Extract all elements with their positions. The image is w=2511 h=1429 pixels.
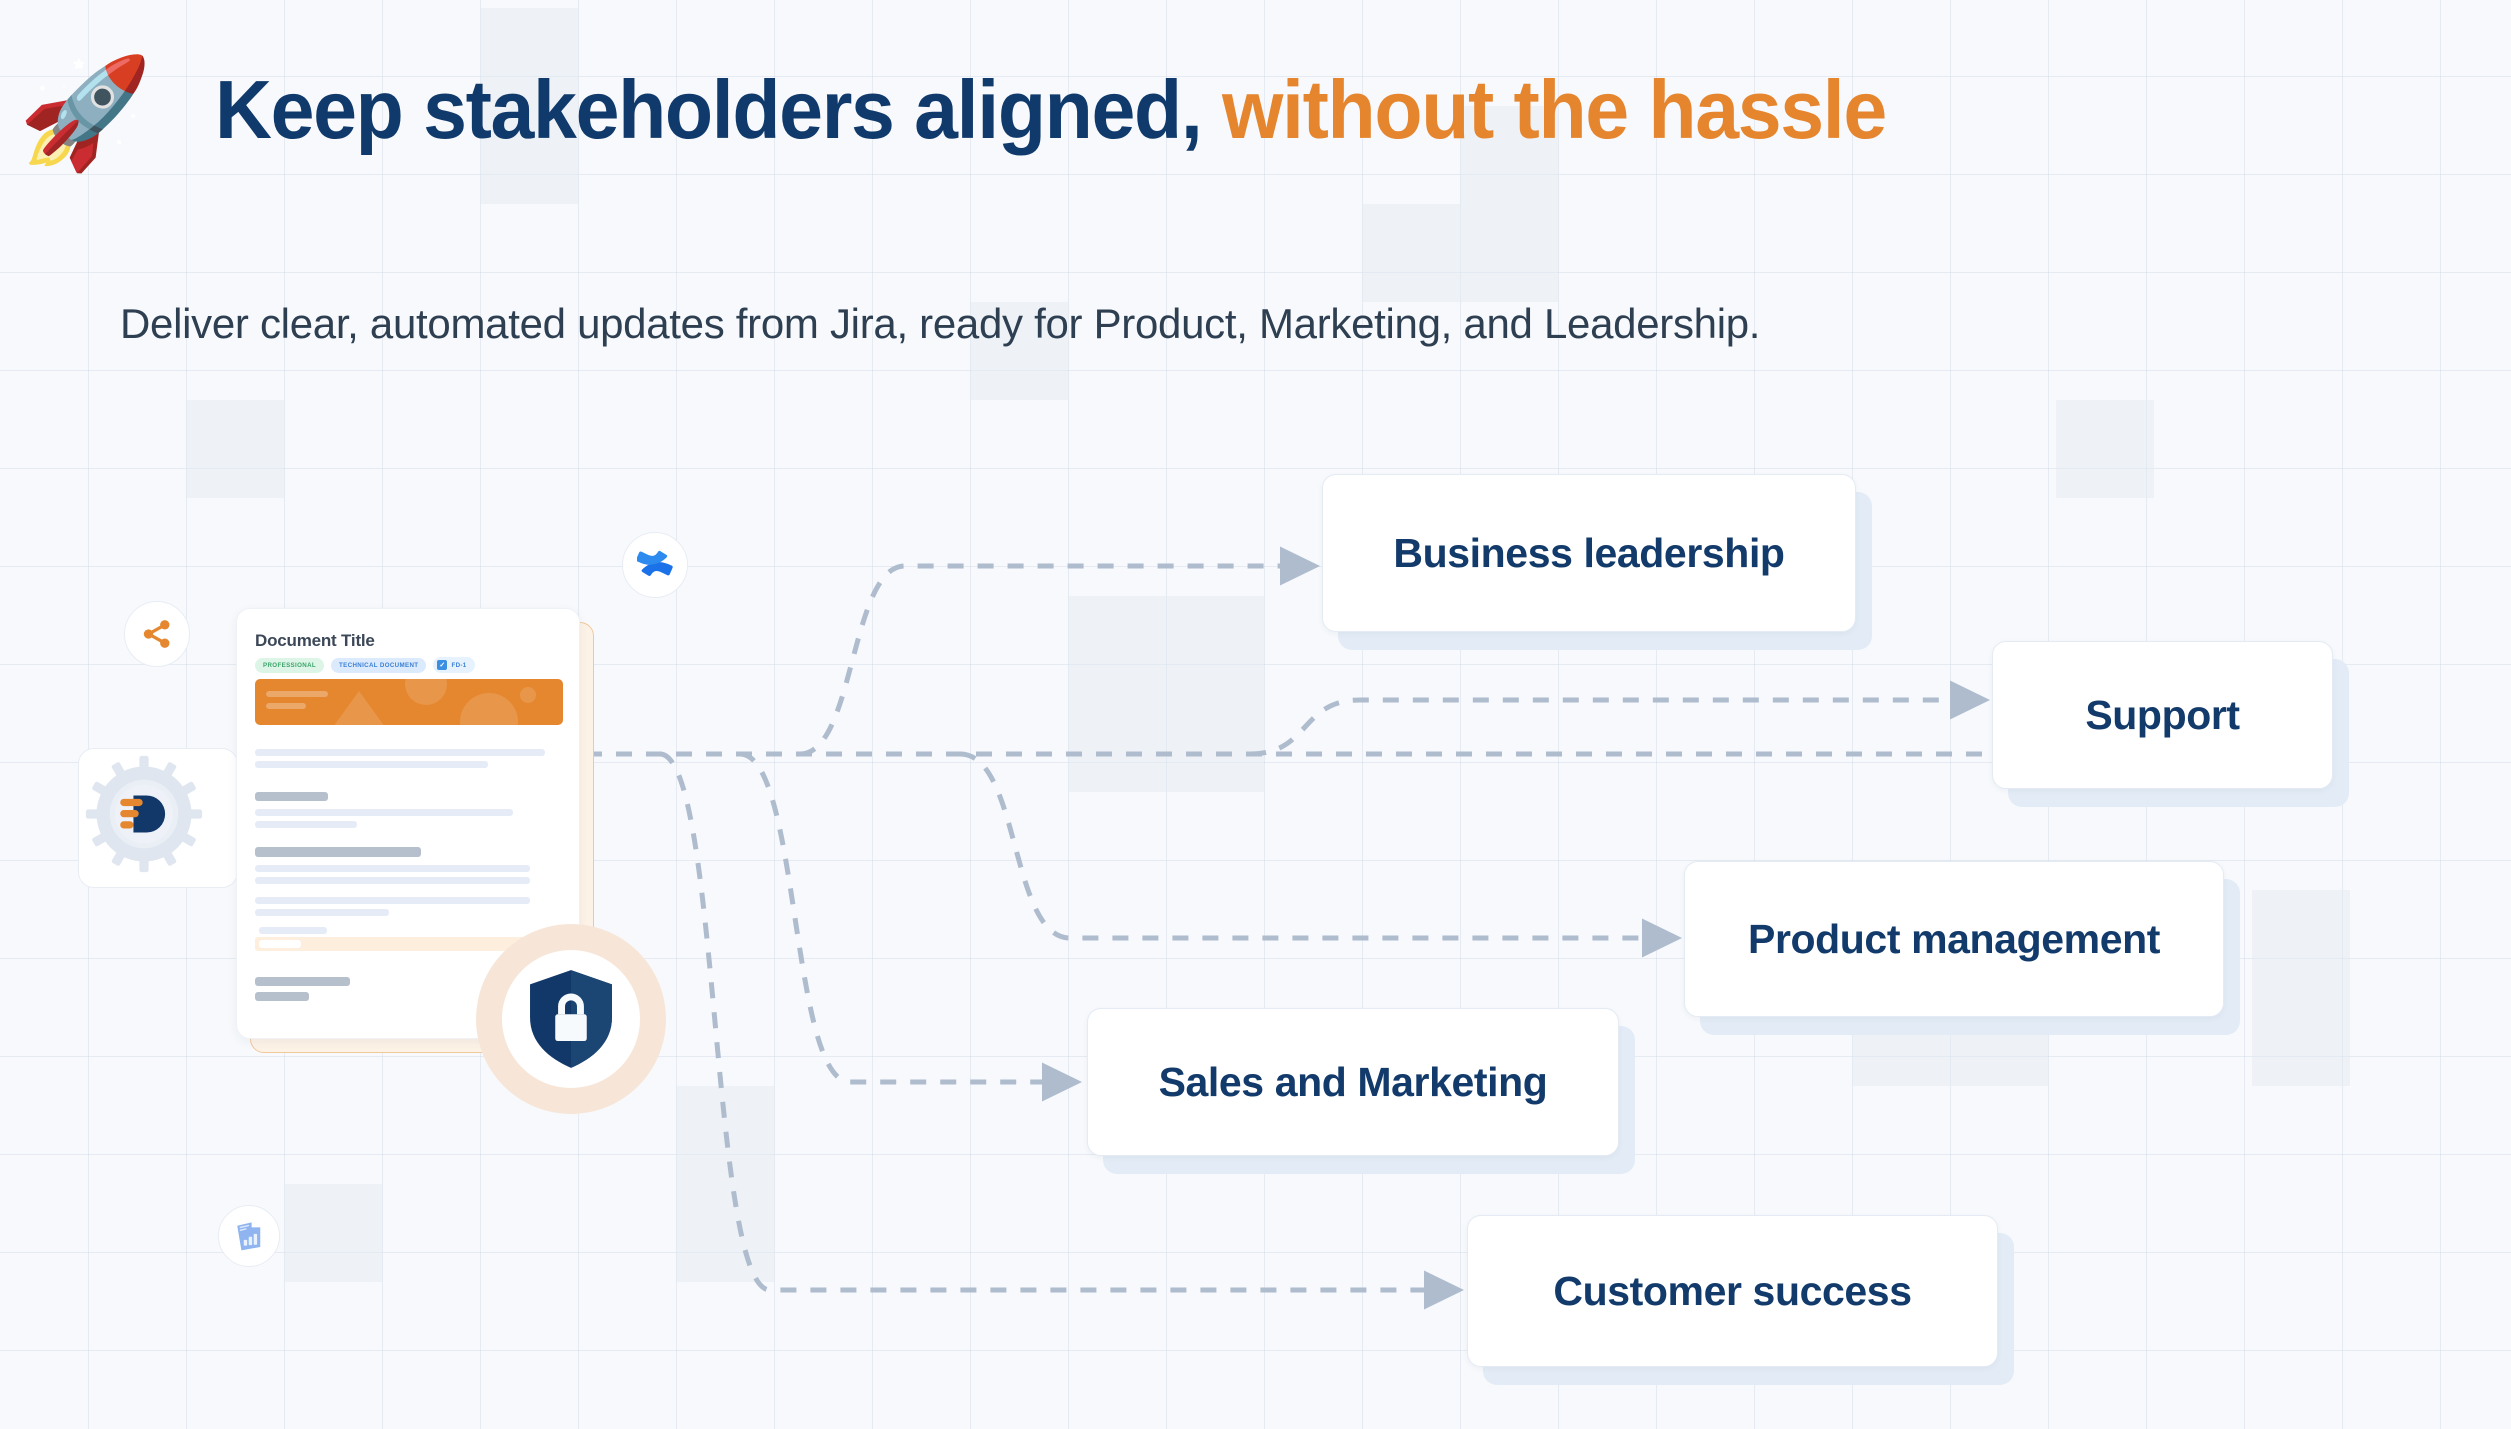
confluence-icon-chip[interactable] — [622, 532, 688, 598]
wire-support — [1250, 700, 1966, 754]
report-chart-icon — [232, 1219, 266, 1253]
stakeholder-label: Support — [2085, 692, 2239, 739]
document-banner — [255, 679, 563, 725]
checkbox-icon: ✓ — [437, 660, 447, 670]
stakeholder-card-product-management[interactable]: Product management — [1684, 861, 2224, 1017]
shield-inner-circle — [502, 950, 640, 1088]
badge-fd-1[interactable]: ✓ FD-1 — [433, 657, 474, 673]
stakeholder-label: Sales and Marketing — [1159, 1059, 1548, 1106]
shield-lock-icon — [523, 967, 619, 1071]
stakeholder-card-customer-success[interactable]: Customer success — [1467, 1215, 1998, 1367]
stakeholder-label: Business leadership — [1393, 530, 1784, 577]
stakeholder-label: Product management — [1748, 916, 2160, 963]
badge-professional: PROFESSIONAL — [255, 658, 324, 673]
brand-mark — [120, 796, 165, 833]
confluence-icon — [637, 547, 673, 583]
hero-illustration: 🚀 Keep stakeholders aligned, without the… — [0, 0, 2511, 1429]
stakeholder-card-business-leadership[interactable]: Business leadership — [1322, 474, 1856, 632]
stakeholder-label: Customer success — [1553, 1268, 1911, 1315]
badge-fd-1-label: FD-1 — [451, 662, 466, 669]
report-chart-icon-chip[interactable] — [218, 1205, 280, 1267]
wire-sales-marketing — [740, 754, 1058, 1082]
wire-business-leadership — [800, 566, 1296, 754]
wire-support-trunk — [586, 700, 2180, 754]
stakeholder-card-sales-and-marketing[interactable]: Sales and Marketing — [1087, 1008, 1619, 1156]
wire-product-management — [960, 754, 1658, 938]
badge-technical-document: TECHNICAL DOCUMENT — [331, 658, 426, 673]
document-badges: PROFESSIONAL TECHNICAL DOCUMENT ✓ FD-1 — [255, 657, 475, 673]
document-title: Document Title — [255, 631, 375, 651]
stakeholder-card-support[interactable]: Support — [1992, 641, 2333, 789]
share-icon — [140, 617, 174, 651]
share-icon-chip[interactable] — [124, 601, 190, 667]
security-shield-badge — [476, 924, 666, 1114]
gear-settings-icon — [78, 748, 210, 880]
